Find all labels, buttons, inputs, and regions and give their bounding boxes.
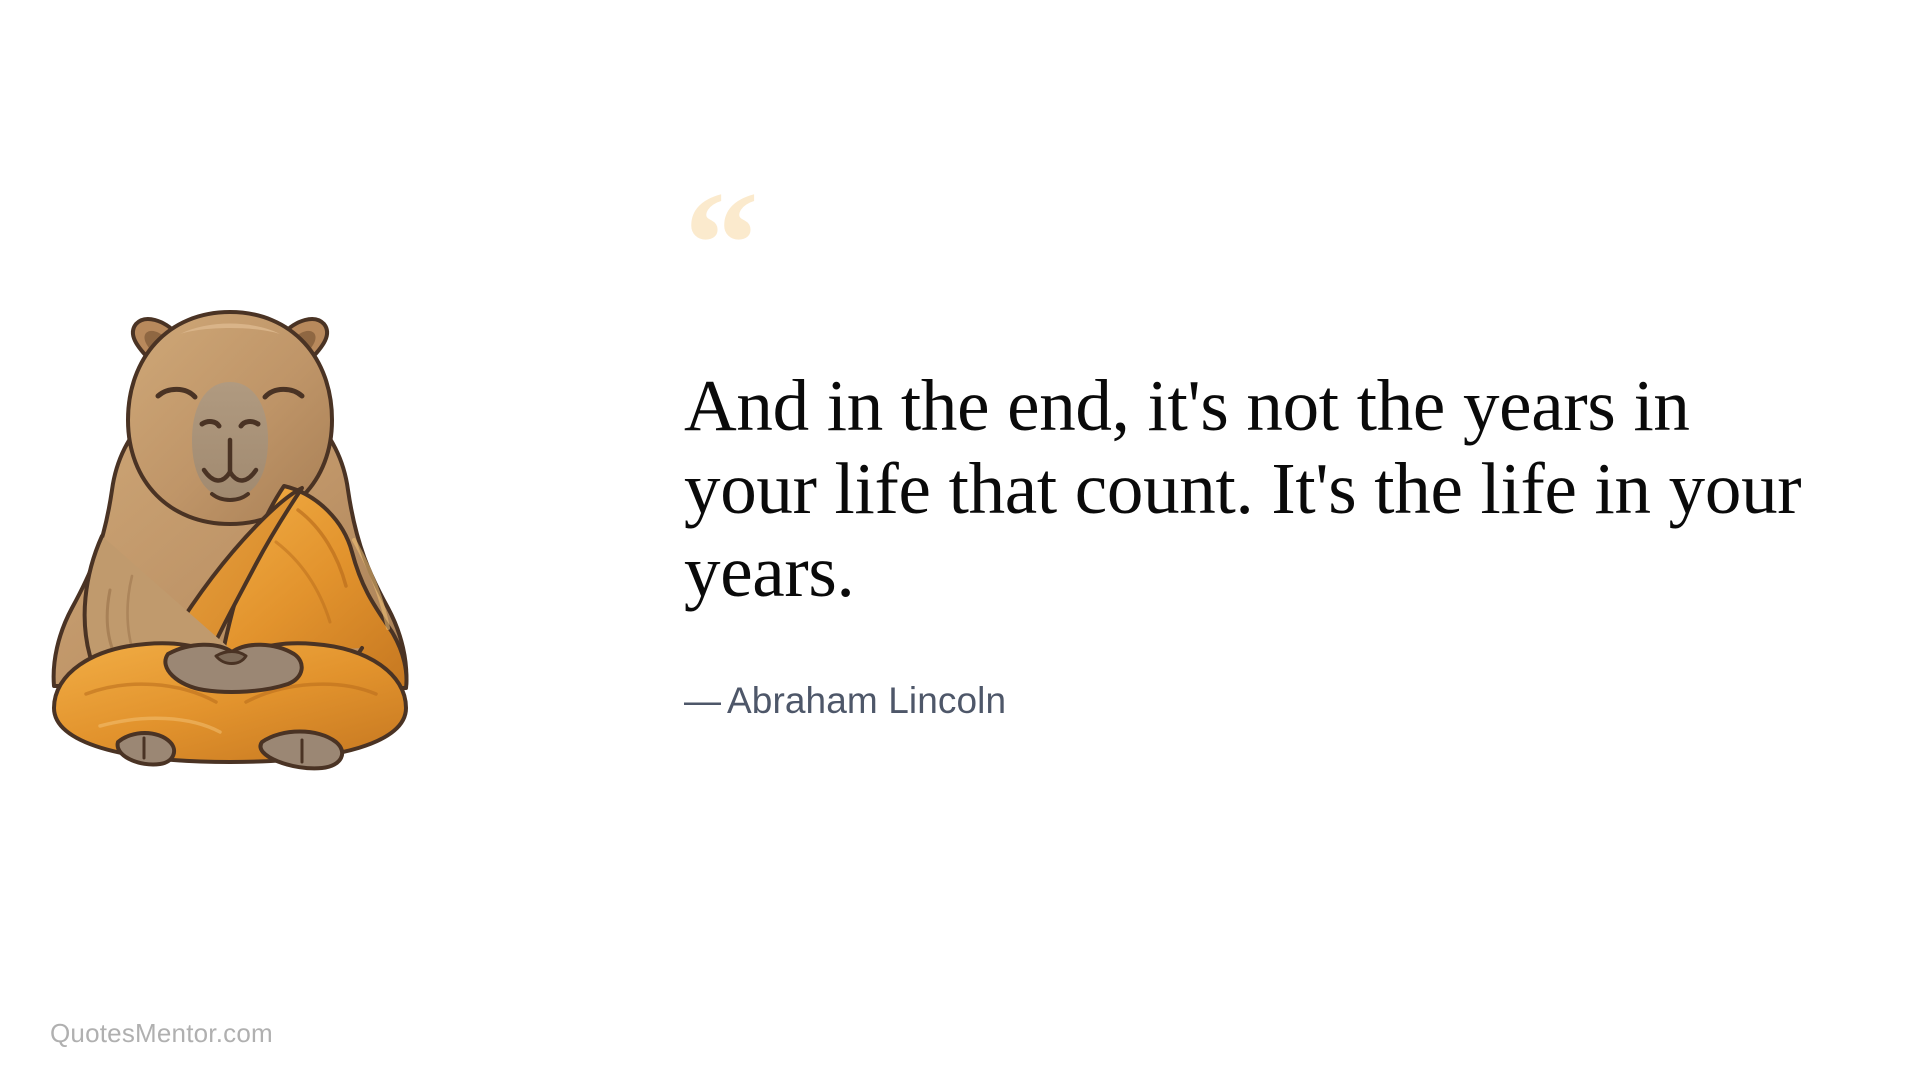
capybara-monk-illustration <box>40 290 420 800</box>
site-watermark: QuotesMentor.com <box>50 1018 273 1049</box>
capybara-thumbs <box>216 652 246 664</box>
attribution-dash: — <box>684 680 727 721</box>
quote-block: “ And in the end, it's not the years in … <box>684 190 1814 722</box>
quote-attribution: —Abraham Lincoln <box>684 680 1814 722</box>
capybara-foot-left <box>118 733 174 764</box>
attribution-name: Abraham Lincoln <box>727 680 1006 721</box>
quote-card: “ And in the end, it's not the years in … <box>0 0 1920 1080</box>
quote-text: And in the end, it's not the years in yo… <box>684 364 1814 614</box>
opening-quote-mark: “ <box>684 190 1814 268</box>
